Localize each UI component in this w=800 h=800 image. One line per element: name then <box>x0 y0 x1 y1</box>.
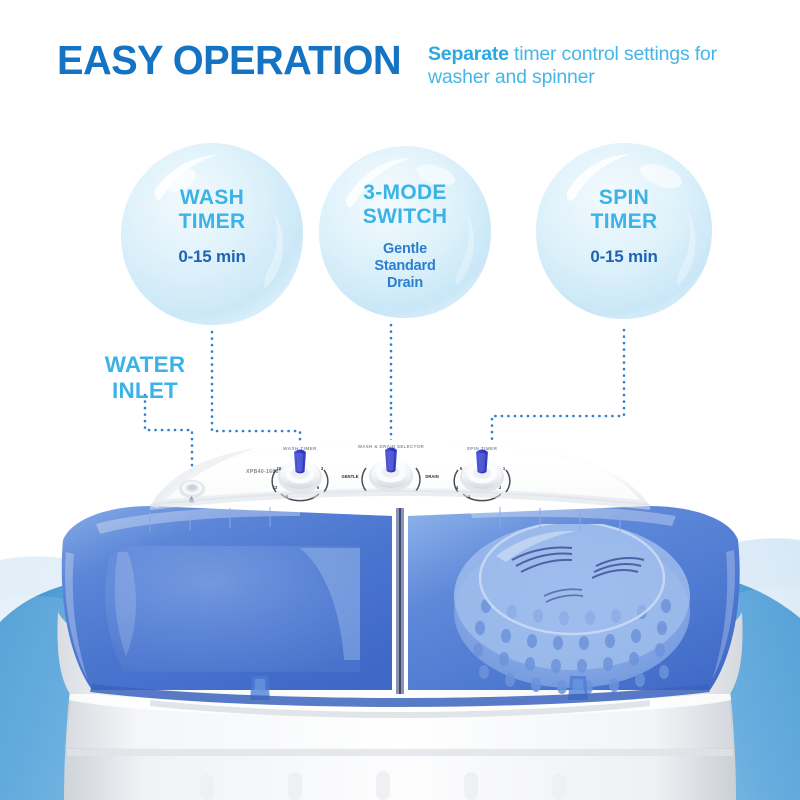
machine-base-seam <box>67 749 733 756</box>
callout-water-inlet: WATER INLET <box>80 352 210 404</box>
wash-tub-cavity <box>105 546 360 672</box>
svg-text:DRAIN: DRAIN <box>425 474 438 479</box>
page-title: EASY OPERATION <box>57 40 401 81</box>
svg-text:12: 12 <box>273 485 278 490</box>
lid-center-seam <box>399 508 401 694</box>
page-subtitle: Separate timer control settings for wash… <box>428 43 778 89</box>
water-inlet-cap[interactable] <box>179 480 205 498</box>
water-inlet-line-2: INLET <box>80 378 210 404</box>
svg-text:GENTLE: GENTLE <box>342 474 359 479</box>
wash-lid-handle-inner <box>254 679 266 697</box>
header: EASY OPERATION Separate timer control se… <box>0 0 800 120</box>
water-inlet-line-1: WATER <box>80 352 210 378</box>
subtitle-emphasis: Separate <box>428 43 509 65</box>
infographic-canvas: EASY OPERATION Separate timer control se… <box>0 0 800 800</box>
